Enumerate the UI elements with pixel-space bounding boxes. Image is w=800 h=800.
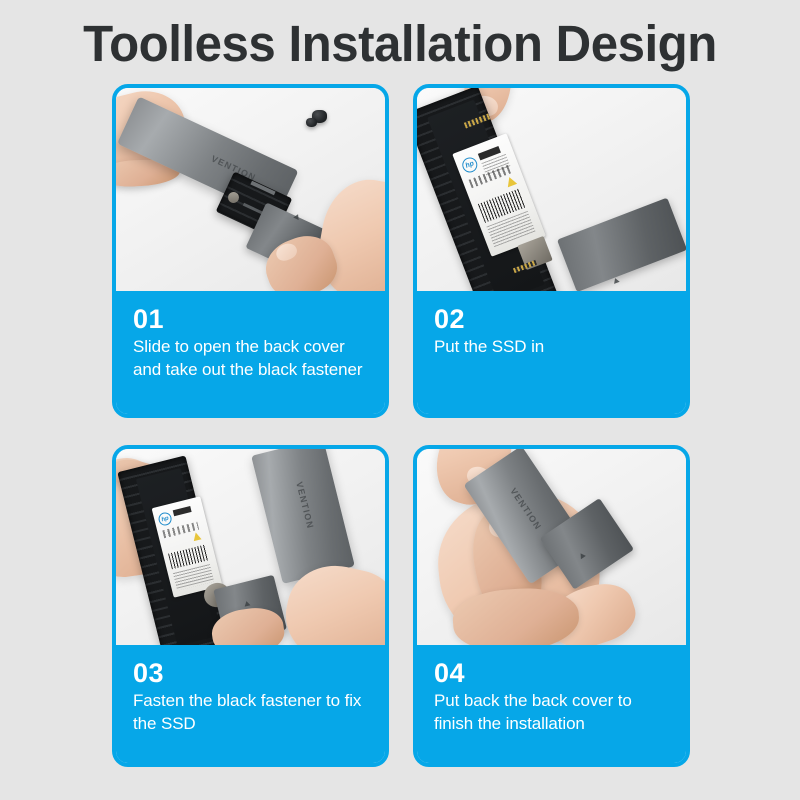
step-number: 01 [133,305,368,333]
step-card-03: hp VENTION 03 [112,445,389,767]
step-description: Put the SSD in [434,336,669,359]
hp-logo-icon: hp [157,511,173,527]
step-caption-02: 02 Put the SSD in [417,291,686,414]
step-description: Put back the back cover to finish the in… [434,690,669,735]
brand-label: VENTION [294,481,315,530]
black-fastener-base [306,118,317,127]
step-caption-01: 01 Slide to open the back cover and take… [116,291,385,414]
step-description: Slide to open the back cover and take ou… [133,336,368,381]
step-card-01: VENTION 01 Slide to open t [112,84,389,418]
step-caption-03: 03 Fasten the black fastener to fix the … [116,645,385,763]
enclosure-lid: VENTION [251,449,355,584]
step-number: 04 [434,659,669,687]
warning-triangle-icon [505,175,518,187]
back-cover [557,198,686,291]
step-number: 03 [133,659,368,687]
step-photo-01: VENTION [116,88,385,291]
step-card-04: VENTION 04 Put back the back cover to fi… [413,445,690,767]
brand-label: VENTION [508,486,543,532]
step-photo-02: hp [417,88,686,291]
step-number: 02 [434,305,669,333]
step-card-02: hp 02 Put the SSD in [413,84,690,418]
warning-triangle-icon [192,531,202,541]
step-photo-03: hp VENTION [116,449,385,645]
infographic-page: Toolless Installation Design VENTION [0,0,800,800]
label-block [173,506,192,516]
page-title: Toolless Installation Design [14,14,786,73]
steps-grid: VENTION 01 Slide to open t [112,84,690,767]
step-description: Fasten the black fastener to fix the SSD [133,690,368,735]
direction-arrow-icon [612,277,619,284]
step-photo-04: VENTION [417,449,686,645]
hp-logo-icon: hp [460,155,479,174]
step-caption-04: 04 Put back the back cover to finish the… [417,645,686,763]
